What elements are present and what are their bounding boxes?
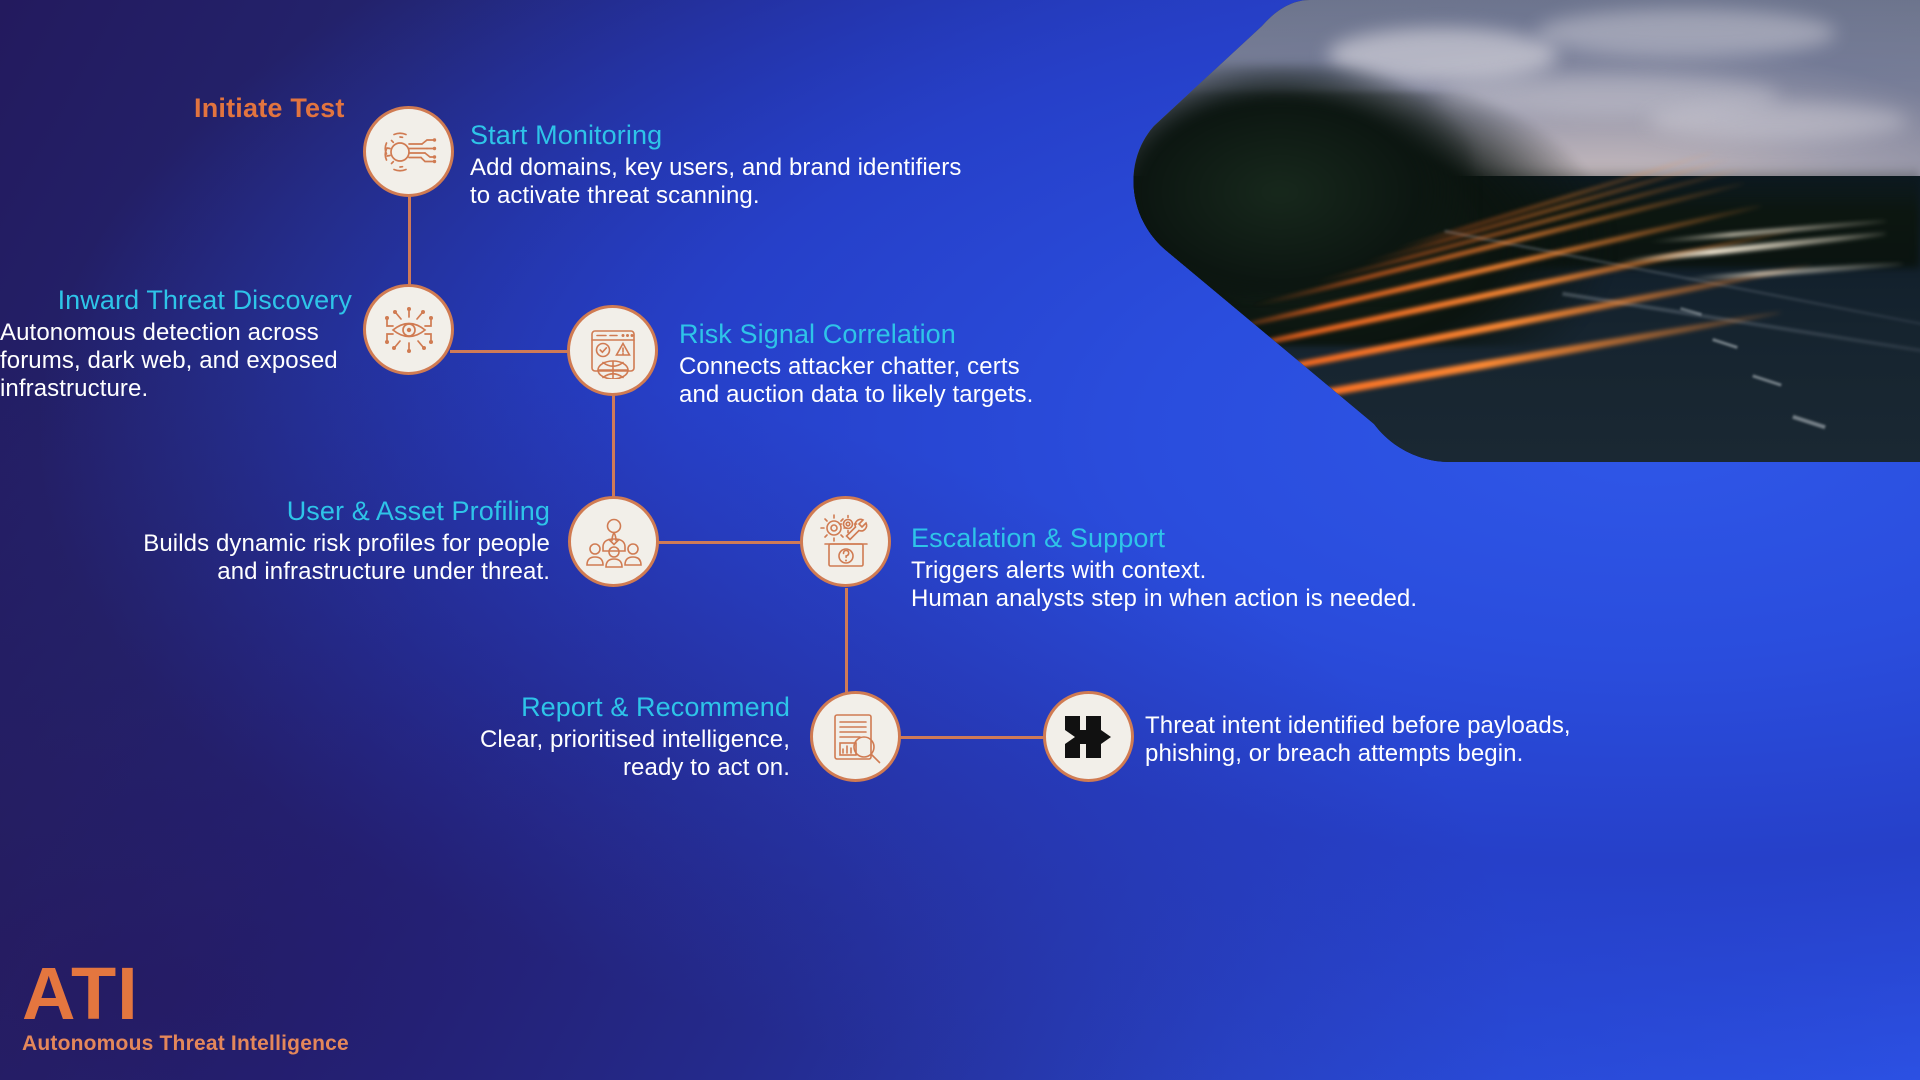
- step-escalation-support: Escalation & Support Triggers alerts wit…: [911, 523, 1531, 613]
- step-title: User & Asset Profiling: [120, 496, 550, 528]
- step-title: Report & Recommend: [420, 692, 790, 724]
- node-inward-threat-discovery[interactable]: [363, 284, 454, 375]
- eye-circuit-icon: [380, 302, 438, 358]
- user-profile-group-icon: [585, 516, 643, 568]
- step-body-line: and auction data to likely targets.: [679, 381, 1199, 409]
- step-body-line: Add domains, key users, and brand identi…: [470, 154, 990, 182]
- outcome-body-line: Threat intent identified before payloads…: [1145, 712, 1705, 740]
- connector-start-to-discovery: [408, 196, 411, 294]
- outcome-text: Threat intent identified before payloads…: [1145, 712, 1705, 768]
- step-body-line: to activate threat scanning.: [470, 182, 990, 210]
- connector-report-to-outcome: [890, 736, 1060, 739]
- step-title: Escalation & Support: [911, 523, 1531, 555]
- gears-wrench-helpdesk-icon: [817, 514, 875, 570]
- document-magnifier-icon: [828, 709, 884, 765]
- node-threat-intent-outcome[interactable]: [1043, 691, 1134, 782]
- step-body-line: infrastructure.: [0, 375, 352, 403]
- browser-alert-icon: [585, 323, 641, 379]
- step-body-line: Triggers alerts with context.: [911, 557, 1531, 585]
- gear-circuit-icon: [380, 126, 438, 178]
- ati-glyph-icon: [1059, 708, 1119, 766]
- node-report-recommend[interactable]: [810, 691, 901, 782]
- step-risk-signal-correlation: Risk Signal Correlation Connects attacke…: [679, 319, 1199, 409]
- step-inward-threat-discovery: Inward Threat Discovery Autonomous detec…: [0, 285, 352, 402]
- step-title: Start Monitoring: [470, 120, 990, 152]
- node-risk-signal-correlation[interactable]: [567, 305, 658, 396]
- ati-logo: ATI Autonomous Threat Intelligence: [22, 960, 349, 1056]
- initiate-test-label: Initiate Test: [194, 93, 345, 124]
- slide-canvas: Initiate Test Start Monitoring Add domai…: [0, 0, 1920, 1080]
- step-body-line: and infrastructure under threat.: [120, 558, 550, 586]
- step-body-line: Human analysts step in when action is ne…: [911, 585, 1531, 613]
- step-body-line: Builds dynamic risk profiles for people: [120, 530, 550, 558]
- outcome-body-line: phishing, or breach attempts begin.: [1145, 740, 1705, 768]
- step-title: Risk Signal Correlation: [679, 319, 1199, 351]
- step-body-line: Clear, prioritised intelligence,: [420, 726, 790, 754]
- logo-tagline: Autonomous Threat Intelligence: [22, 1032, 349, 1056]
- step-report-recommend: Report & Recommend Clear, prioritised in…: [420, 692, 790, 782]
- step-title: Inward Threat Discovery: [0, 285, 352, 317]
- step-body-line: ready to act on.: [420, 754, 790, 782]
- node-user-asset-profiling[interactable]: [568, 496, 659, 587]
- step-user-asset-profiling: User & Asset Profiling Builds dynamic ri…: [120, 496, 550, 586]
- step-body-line: forums, dark web, and exposed: [0, 347, 352, 375]
- step-body-line: Connects attacker chatter, certs: [679, 353, 1199, 381]
- logo-wordmark: ATI: [22, 960, 349, 1028]
- step-body-line: Autonomous detection across: [0, 319, 352, 347]
- node-start-monitoring[interactable]: [363, 106, 454, 197]
- node-escalation-support[interactable]: [800, 496, 891, 587]
- step-start-monitoring: Start Monitoring Add domains, key users,…: [470, 120, 990, 210]
- photo-cloud: [1536, 9, 1836, 57]
- photo-cloud: [1648, 102, 1908, 140]
